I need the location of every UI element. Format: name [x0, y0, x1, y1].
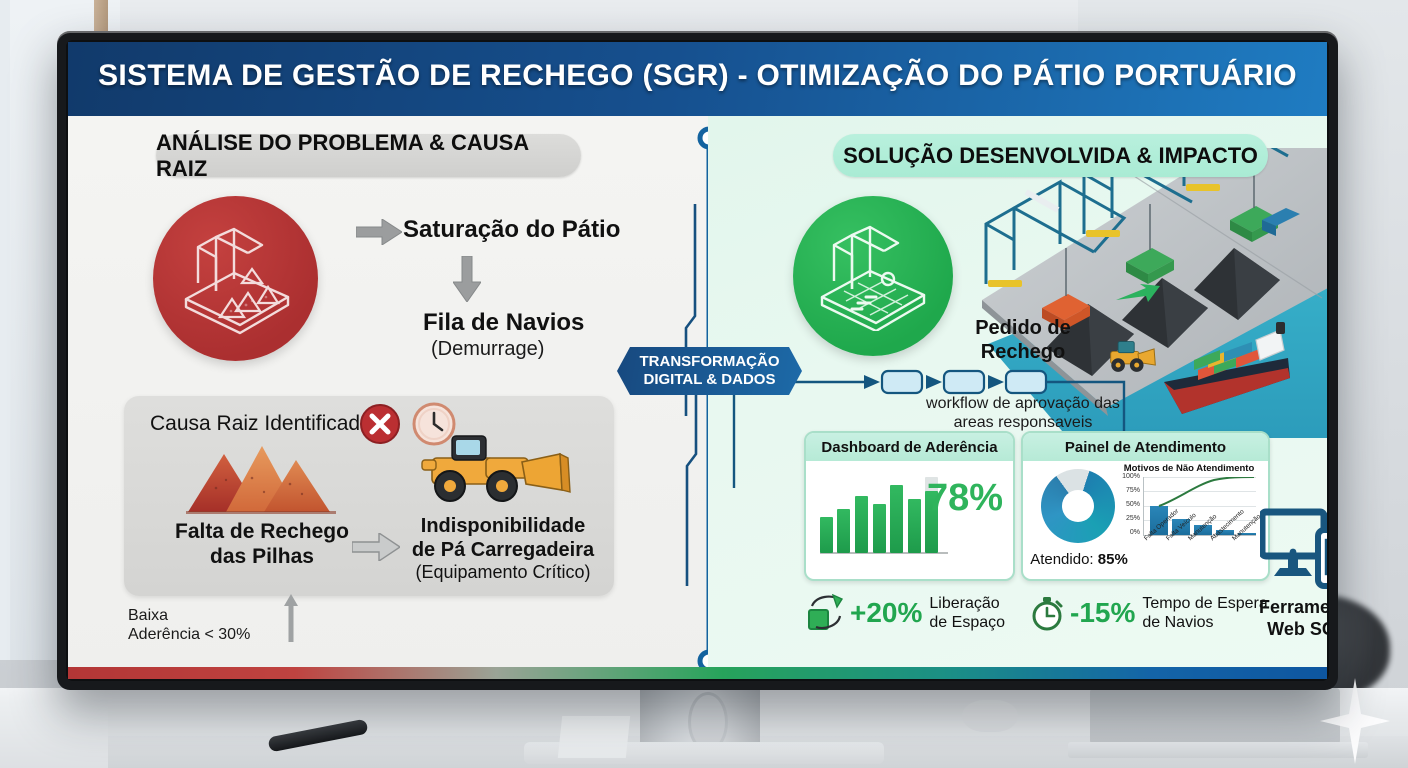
pareto-ytick-0: 0%	[1119, 529, 1140, 536]
card-panel-title: Painel de Atendimento	[1023, 433, 1268, 461]
flow-label-demurrage: (Demurrage)	[431, 338, 544, 361]
flow-label-ship-queue: Fila de Navios	[423, 309, 584, 337]
right-section-title: SOLUÇÃO DESENVOLVIDA & IMPACTO	[833, 134, 1268, 177]
pareto-ytick-100: 100%	[1119, 473, 1140, 480]
sparkle-icon	[1320, 678, 1390, 764]
workflow-title: Pedido de Rechego	[943, 316, 1103, 364]
bar-2	[837, 509, 850, 553]
root-effect-label: Indisponibilidade de Pá Carregadeira	[394, 514, 612, 562]
arrow-right-icon	[356, 219, 402, 245]
pareto-chart: Motivos de Não Atendimento 100% 75% 50% …	[1119, 463, 1259, 575]
monitor-bezel: SISTEMA DE GESTÃO DE RECHEGO (SGR) - OTI…	[66, 40, 1329, 681]
bar-1	[820, 517, 833, 553]
card-dashboard-aderencia[interactable]: Dashboard de Aderência 78%	[804, 431, 1015, 581]
stockpiles-icon	[186, 440, 336, 518]
screen: SISTEMA DE GESTÃO DE RECHEGO (SGR) - OTI…	[68, 42, 1327, 679]
root-cause-title: Causa Raiz Identificada:	[150, 412, 378, 436]
attendance-donut-chart: Atendido: 85%	[1035, 467, 1121, 577]
root-effect-sublabel: (Equipamento Crítico)	[394, 562, 612, 583]
arrow-down-icon	[453, 256, 481, 302]
error-x-icon	[358, 402, 402, 446]
pareto-ytick-25: 25%	[1119, 515, 1140, 522]
donut-ring	[1041, 469, 1115, 543]
space-expand-icon	[806, 594, 846, 632]
card-painel-atendimento[interactable]: Painel de Atendimento Atendido: 85% Moti…	[1021, 431, 1270, 581]
paper-sheet	[558, 716, 630, 758]
desktop-tablet-icon	[1260, 508, 1327, 590]
pareto-ytick-75: 75%	[1119, 487, 1140, 494]
page-title: SISTEMA DE GESTÃO DE RECHEGO (SGR) - OTI…	[68, 59, 1327, 93]
bar-3	[855, 496, 868, 553]
right-panel: SOLUÇÃO DESENVOLVIDA & IMPACTO	[708, 116, 1327, 679]
metric-wait-time: -15% Tempo de Esperade Navios	[1028, 594, 1268, 632]
flow-label-saturation: Saturação do Pátio	[403, 216, 620, 244]
bar-4	[873, 504, 886, 553]
scene: SISTEMA DE GESTÃO DE RECHEGO (SGR) - OTI…	[0, 0, 1408, 768]
root-cause-label: Falta de Rechego das Pilhas	[152, 519, 372, 569]
content-area: ANÁLISE DO PROBLEMA & CAUSA RAIZ	[68, 116, 1327, 679]
workflow-subtitle: workflow de aprovação das areas responsa…	[873, 394, 1173, 432]
red-yard-saturation-icon	[153, 196, 318, 361]
left-panel: ANÁLISE DO PROBLEMA & CAUSA RAIZ	[68, 116, 708, 679]
laptop	[1090, 688, 1340, 748]
header-bar: SISTEMA DE GESTÃO DE RECHEGO (SGR) - OTI…	[68, 42, 1327, 116]
bottom-accent-bar	[68, 667, 1327, 679]
stopwatch-icon	[1028, 594, 1066, 632]
metric-space-value: +20%	[850, 597, 922, 629]
metric-wait-value: -15%	[1070, 597, 1135, 629]
green-digital-yard-icon	[793, 196, 953, 356]
monitor: SISTEMA DE GESTÃO DE RECHEGO (SGR) - OTI…	[57, 31, 1338, 690]
background-window-edge	[0, 0, 10, 660]
mouse	[962, 700, 1018, 732]
adherence-annotation: Baixa Aderência < 30%	[128, 606, 250, 644]
metric-space-label: Liberaçãode Espaço	[929, 594, 1005, 632]
card-dashboard-title: Dashboard de Aderência	[806, 433, 1013, 461]
arrow-right-icon-2	[352, 533, 400, 561]
left-section-title: ANÁLISE DO PROBLEMA & CAUSA RAIZ	[156, 134, 581, 177]
arrow-up-icon	[284, 594, 298, 642]
metric-space-release: +20% Liberaçãode Espaço	[806, 594, 1005, 632]
adherence-value: 78%	[927, 477, 1003, 520]
bar-6	[908, 499, 921, 553]
bar-5	[890, 485, 903, 553]
tool-label: FerramentaWeb SGR	[1248, 596, 1327, 640]
pareto-title: Motivos de Não Atendimento	[1119, 463, 1259, 474]
clock-icon	[410, 400, 458, 448]
pareto-ytick-50: 50%	[1119, 501, 1140, 508]
desk-left-surface	[0, 700, 108, 768]
root-cause-box: Causa Raiz Identificada:	[124, 396, 614, 596]
donut-label: Atendido: 85%	[1029, 551, 1129, 568]
transformation-badge: TRANSFORMAÇÃO DIGITAL & DADOS	[617, 347, 802, 395]
